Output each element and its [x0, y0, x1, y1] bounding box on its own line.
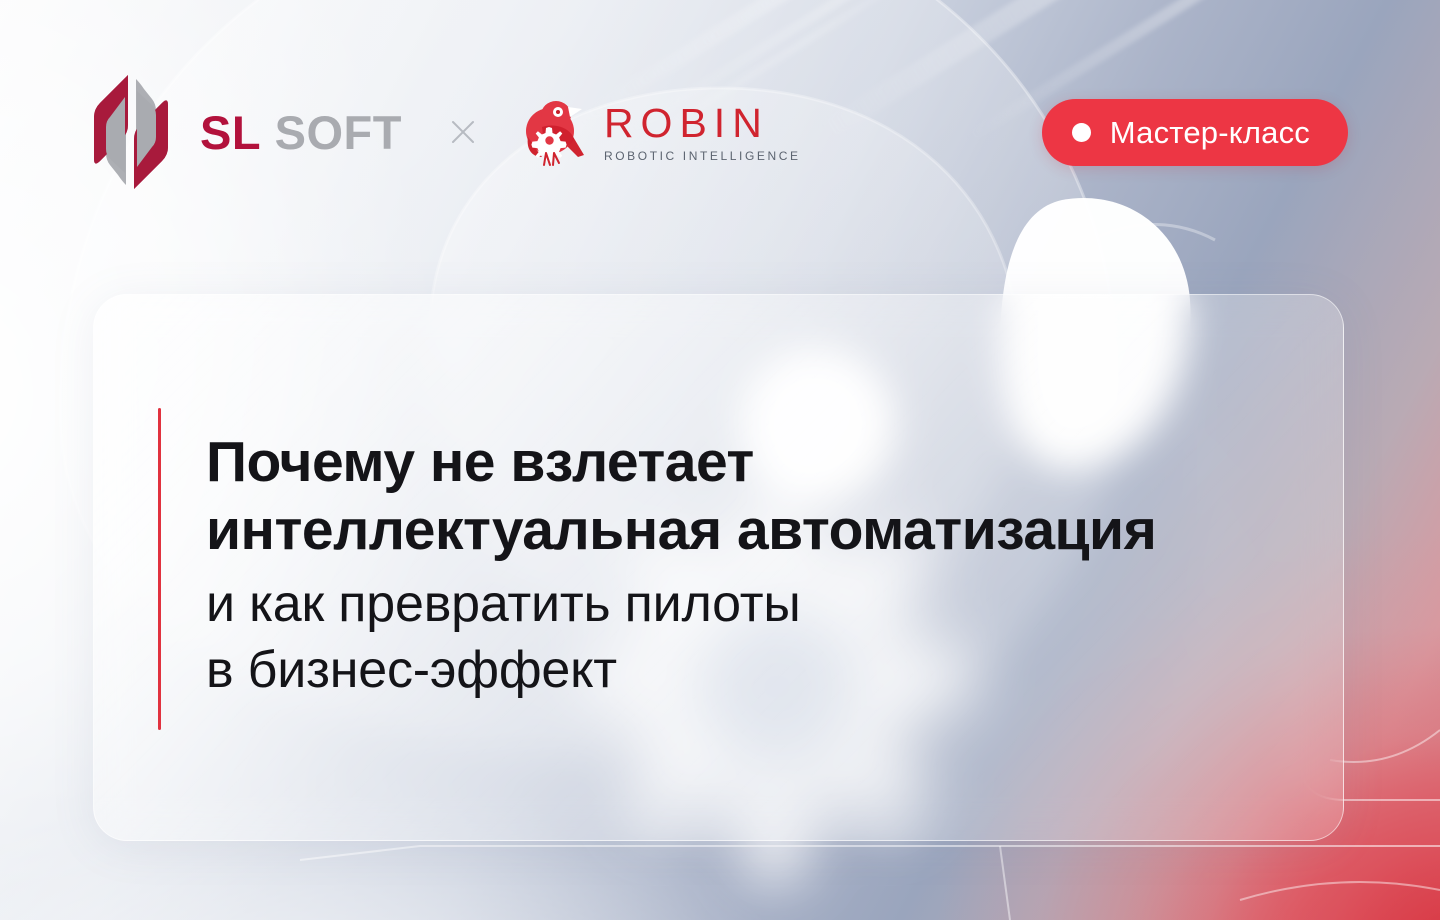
sl-soft-wordmark: SL SOFT	[200, 109, 402, 156]
badge-dot-icon	[1072, 123, 1091, 142]
sl-soft-diamond-mark	[92, 73, 170, 191]
robin-wordmark: ROBIN ROBOTIC INTELLIGENCE	[604, 103, 801, 162]
red-accent-bar	[158, 408, 161, 730]
robin-logo: ROBIN ROBOTIC INTELLIGENCE	[520, 97, 801, 167]
headline-bold-line-2: интеллектуальная автоматизация	[206, 496, 1246, 564]
badge-label: Мастер-класс	[1110, 117, 1310, 148]
headline-bold-line-1: Почему не взлетает	[206, 428, 1246, 496]
logo-header: SL SOFT	[92, 70, 801, 194]
robin-bird-icon	[520, 97, 586, 167]
sl-word-primary: SL	[200, 106, 261, 159]
cross-separator-icon	[450, 119, 476, 145]
masterclass-badge[interactable]: Мастер-класс	[1042, 99, 1348, 166]
sl-word-secondary: SOFT	[275, 106, 402, 159]
headline-light-line-1: и как превратить пилоты	[206, 571, 1246, 637]
robin-tagline: ROBOTIC INTELLIGENCE	[604, 150, 801, 162]
banner-canvas: Почему не взлетает интеллектуальная авто…	[0, 0, 1440, 920]
headline-block: Почему не взлетает интеллектуальная авто…	[206, 428, 1246, 703]
robin-word: ROBIN	[604, 103, 801, 144]
headline-light-line-2: в бизнес-эффект	[206, 637, 1246, 703]
